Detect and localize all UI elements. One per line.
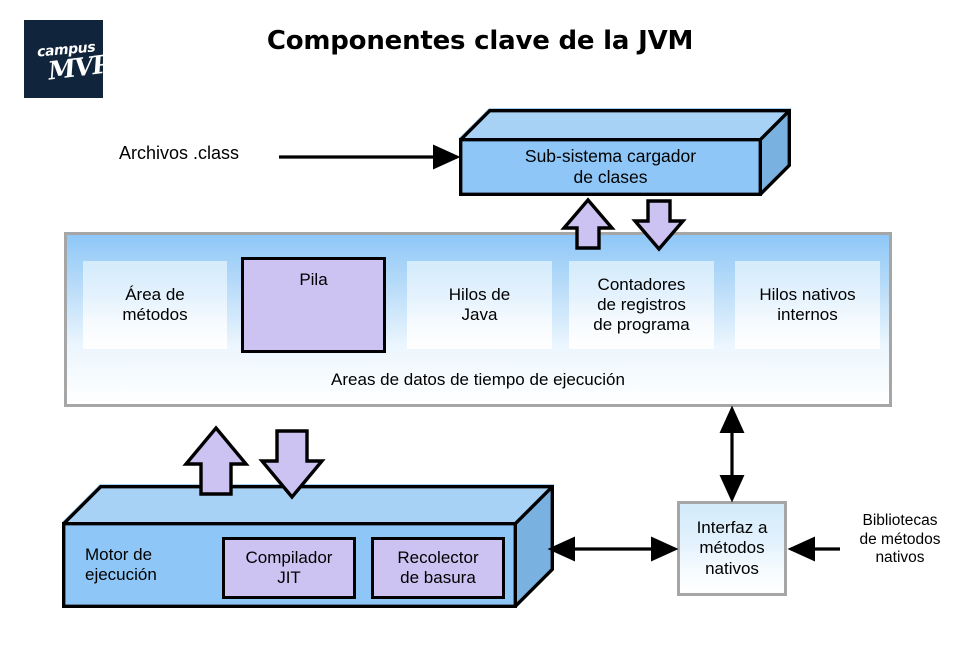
label-line3: de programa — [593, 315, 689, 335]
class-loader-front-face: Sub-sistema cargador de clases — [459, 138, 762, 196]
class-loader-box: Sub-sistema cargador de clases — [459, 108, 791, 196]
native-method-interface-box: Interfaz a métodos nativos — [677, 501, 787, 596]
runtime-box-method-area-label: Área de métodos — [122, 285, 187, 325]
garbage-collector-label: Recolector de basura — [397, 548, 478, 588]
native-method-interface-label: Interfaz a métodos nativos — [697, 518, 768, 578]
label-line2: Java — [449, 305, 510, 325]
label-line2: internos — [759, 305, 855, 325]
runtime-box-java-threads: Hilos de Java — [407, 261, 552, 349]
label-line2: ejecución — [85, 565, 157, 585]
runtime-box-internal-native-threads: Hilos nativos internos — [735, 261, 880, 349]
label-line1: Compilador — [246, 548, 333, 568]
runtime-box-stack-label: Pila — [244, 270, 383, 290]
execution-engine-box: Motor de ejecución Compilador JIT Recole… — [62, 484, 554, 608]
runtime-box-internal-native-threads-label: Hilos nativos internos — [759, 285, 855, 325]
class-files-label: Archivos .class — [119, 143, 239, 165]
execution-engine-label: Motor de ejecución — [85, 545, 157, 585]
label-line3: nativos — [697, 559, 768, 579]
label-line2: métodos — [697, 538, 768, 558]
label-line1: Hilos nativos — [759, 285, 855, 305]
label-line3: nativos — [846, 549, 954, 568]
runtime-box-method-area: Área de métodos — [83, 261, 227, 349]
label-line1: Hilos de — [449, 285, 510, 305]
label-line2: JIT — [246, 568, 333, 588]
label-line1: Área de — [122, 285, 187, 305]
label-line2: métodos — [122, 305, 187, 325]
runtime-area-caption: Areas de datos de tiempo de ejecución — [67, 370, 889, 390]
class-loader-label-line2: de clases — [525, 167, 696, 188]
label-line2: de métodos — [846, 531, 954, 550]
class-loader-label: Sub-sistema cargador de clases — [525, 146, 696, 187]
page-title: Componentes clave de la JVM — [0, 26, 960, 56]
label-line1: Motor de — [85, 545, 157, 565]
jit-compiler-label: Compilador JIT — [246, 548, 333, 588]
label-line1: Pila — [244, 270, 383, 290]
diagram-canvas: campus MVP Componentes clave de la JVM A… — [0, 0, 960, 647]
execution-engine-front-face: Motor de ejecución Compilador JIT Recole… — [62, 522, 517, 608]
jit-compiler-box: Compilador JIT — [222, 537, 356, 599]
label-line1: Interfaz a — [697, 518, 768, 538]
native-libraries-label: Bibliotecas de métodos nativos — [846, 512, 954, 568]
garbage-collector-box: Recolector de basura — [371, 537, 505, 599]
label-line1: Recolector — [397, 548, 478, 568]
runtime-box-stack: Pila — [241, 257, 386, 353]
label-line2: de basura — [397, 568, 478, 588]
label-line1: Bibliotecas — [846, 512, 954, 531]
class-loader-label-line1: Sub-sistema cargador — [525, 146, 696, 167]
runtime-data-areas-container: Área de métodos Pila Hilos de Java Conta… — [64, 232, 892, 407]
runtime-box-java-threads-label: Hilos de Java — [449, 285, 510, 325]
runtime-box-program-counters-label: Contadores de registros de programa — [593, 275, 689, 335]
label-line2: de registros — [593, 295, 689, 315]
runtime-box-program-counters: Contadores de registros de programa — [569, 261, 714, 349]
label-line1: Contadores — [593, 275, 689, 295]
